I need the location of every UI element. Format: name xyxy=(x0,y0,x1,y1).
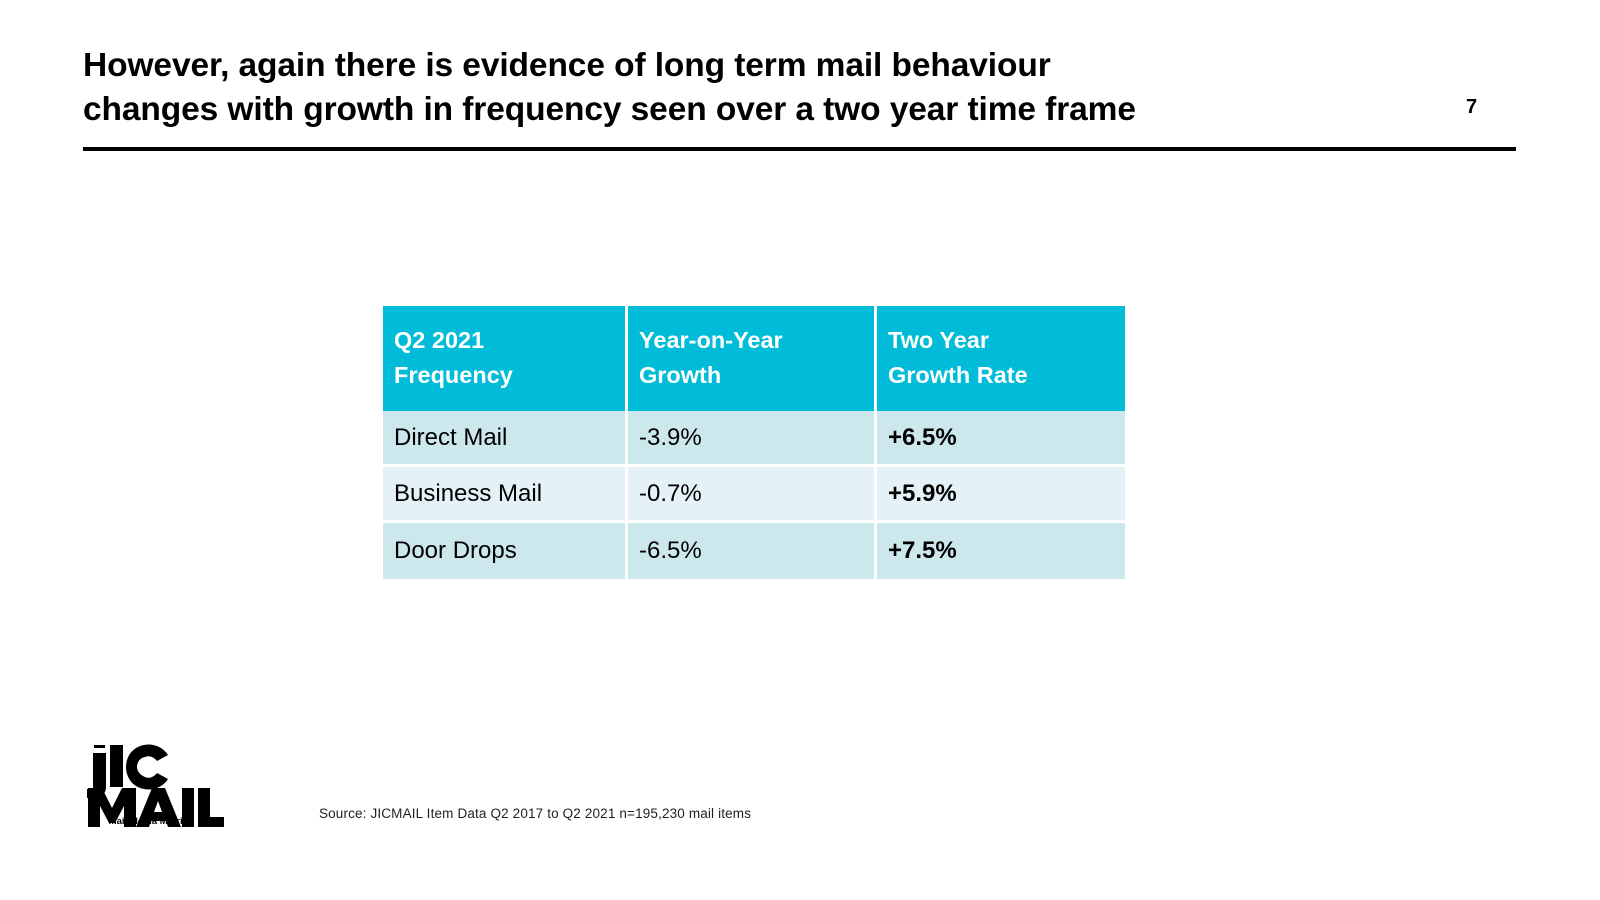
cell-category: Door Drops xyxy=(383,523,628,579)
table-header: Q2 2021 Frequency Year-on-Year Growth Tw… xyxy=(383,306,1125,411)
column-header-yoy-growth-line1: Year-on-Year xyxy=(639,323,874,358)
title-block: However, again there is evidence of long… xyxy=(83,44,1423,132)
jicmail-logo: Mail Media Metrics xyxy=(79,731,224,827)
source-note: Source: JICMAIL Item Data Q2 2017 to Q2 … xyxy=(319,806,751,821)
cell-two-year-growth: +7.5% xyxy=(877,523,1125,579)
cell-two-year-growth: +5.9% xyxy=(877,467,1125,523)
column-header-yoy-growth-line2: Growth xyxy=(639,358,874,393)
table-row: Door Drops -6.5% +7.5% xyxy=(383,523,1125,579)
column-header-two-year-growth: Two Year Growth Rate xyxy=(877,306,1125,411)
slide-canvas: However, again there is evidence of long… xyxy=(0,0,1600,900)
page-title: However, again there is evidence of long… xyxy=(83,44,1423,132)
column-header-frequency: Q2 2021 Frequency xyxy=(383,306,628,411)
table-row: Business Mail -0.7% +5.9% xyxy=(383,467,1125,523)
cell-category: Business Mail xyxy=(383,467,628,523)
table-header-row: Q2 2021 Frequency Year-on-Year Growth Tw… xyxy=(383,306,1125,411)
title-divider-rule xyxy=(83,147,1516,151)
column-header-frequency-line2: Frequency xyxy=(394,358,625,393)
column-header-two-year-growth-line2: Growth Rate xyxy=(888,358,1125,393)
cell-category: Direct Mail xyxy=(383,411,628,467)
cell-yoy-growth: -3.9% xyxy=(628,411,877,467)
table-body: Direct Mail -3.9% +6.5% Business Mail -0… xyxy=(383,411,1125,579)
cell-yoy-growth: -0.7% xyxy=(628,467,877,523)
column-header-two-year-growth-line1: Two Year xyxy=(888,323,1125,358)
table-row: Direct Mail -3.9% +6.5% xyxy=(383,411,1125,467)
frequency-growth-table: Q2 2021 Frequency Year-on-Year Growth Tw… xyxy=(383,306,1125,579)
cell-two-year-growth: +6.5% xyxy=(877,411,1125,467)
page-number: 7 xyxy=(1466,97,1477,117)
column-header-yoy-growth: Year-on-Year Growth xyxy=(628,306,877,411)
column-header-frequency-line1: Q2 2021 xyxy=(394,323,625,358)
logo-tagline-text: Mail Media Metrics xyxy=(109,816,194,827)
cell-yoy-growth: -6.5% xyxy=(628,523,877,579)
